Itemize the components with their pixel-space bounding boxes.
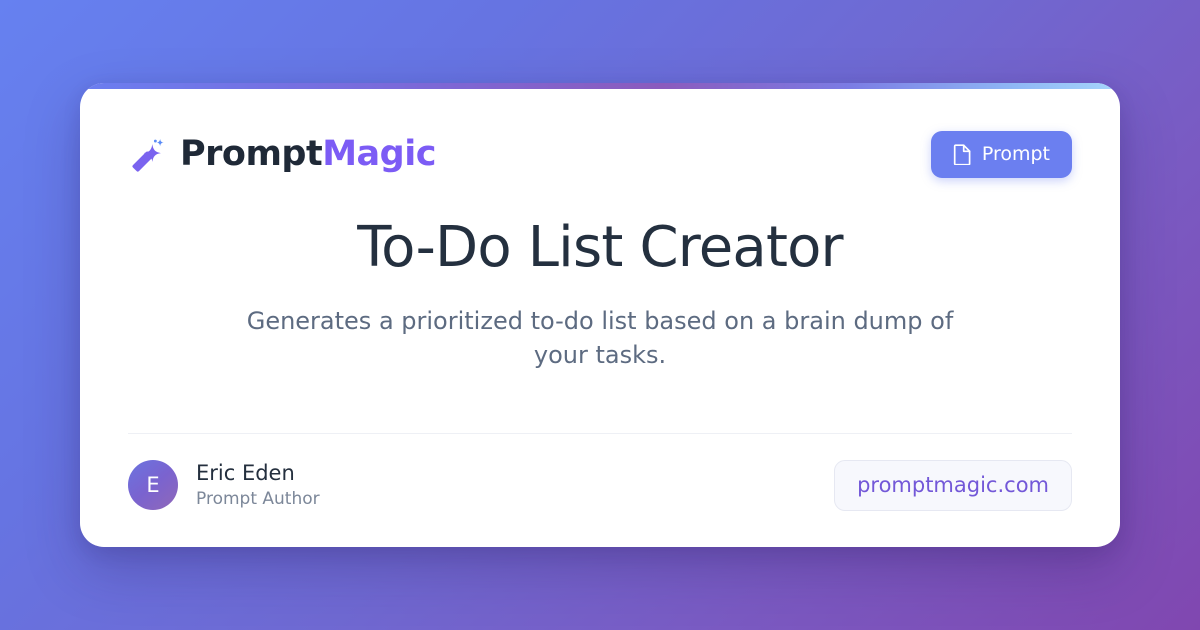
brand-wordmark: PromptMagic — [180, 137, 436, 172]
brand-lockup[interactable]: PromptMagic — [128, 136, 436, 174]
author-block: E Eric Eden Prompt Author — [128, 460, 320, 511]
author-meta: Eric Eden Prompt Author — [196, 460, 320, 511]
hero-section: To-Do List Creator Generates a prioritiz… — [128, 178, 1072, 433]
avatar: E — [128, 460, 178, 510]
prompt-button-label: Prompt — [982, 145, 1050, 164]
page-subtitle: Generates a prioritized to-do list based… — [230, 304, 970, 372]
prompt-button[interactable]: Prompt — [931, 131, 1072, 178]
card-header: PromptMagic Prompt — [128, 83, 1072, 178]
page-title: To-Do List Creator — [357, 217, 843, 279]
prompt-preview-card: PromptMagic Prompt To-Do List Creator Ge… — [80, 83, 1120, 547]
website-url-chip[interactable]: promptmagic.com — [834, 460, 1072, 511]
card-footer: E Eric Eden Prompt Author promptmagic.co… — [128, 434, 1072, 547]
accent-gradient-bar — [80, 83, 1120, 89]
author-name: Eric Eden — [196, 460, 320, 486]
document-icon — [953, 144, 972, 165]
avatar-initial: E — [146, 473, 159, 497]
brand-word-prompt: Prompt — [180, 134, 322, 174]
author-role: Prompt Author — [196, 488, 320, 511]
magic-wand-icon — [128, 136, 166, 174]
brand-word-magic: Magic — [322, 134, 436, 174]
